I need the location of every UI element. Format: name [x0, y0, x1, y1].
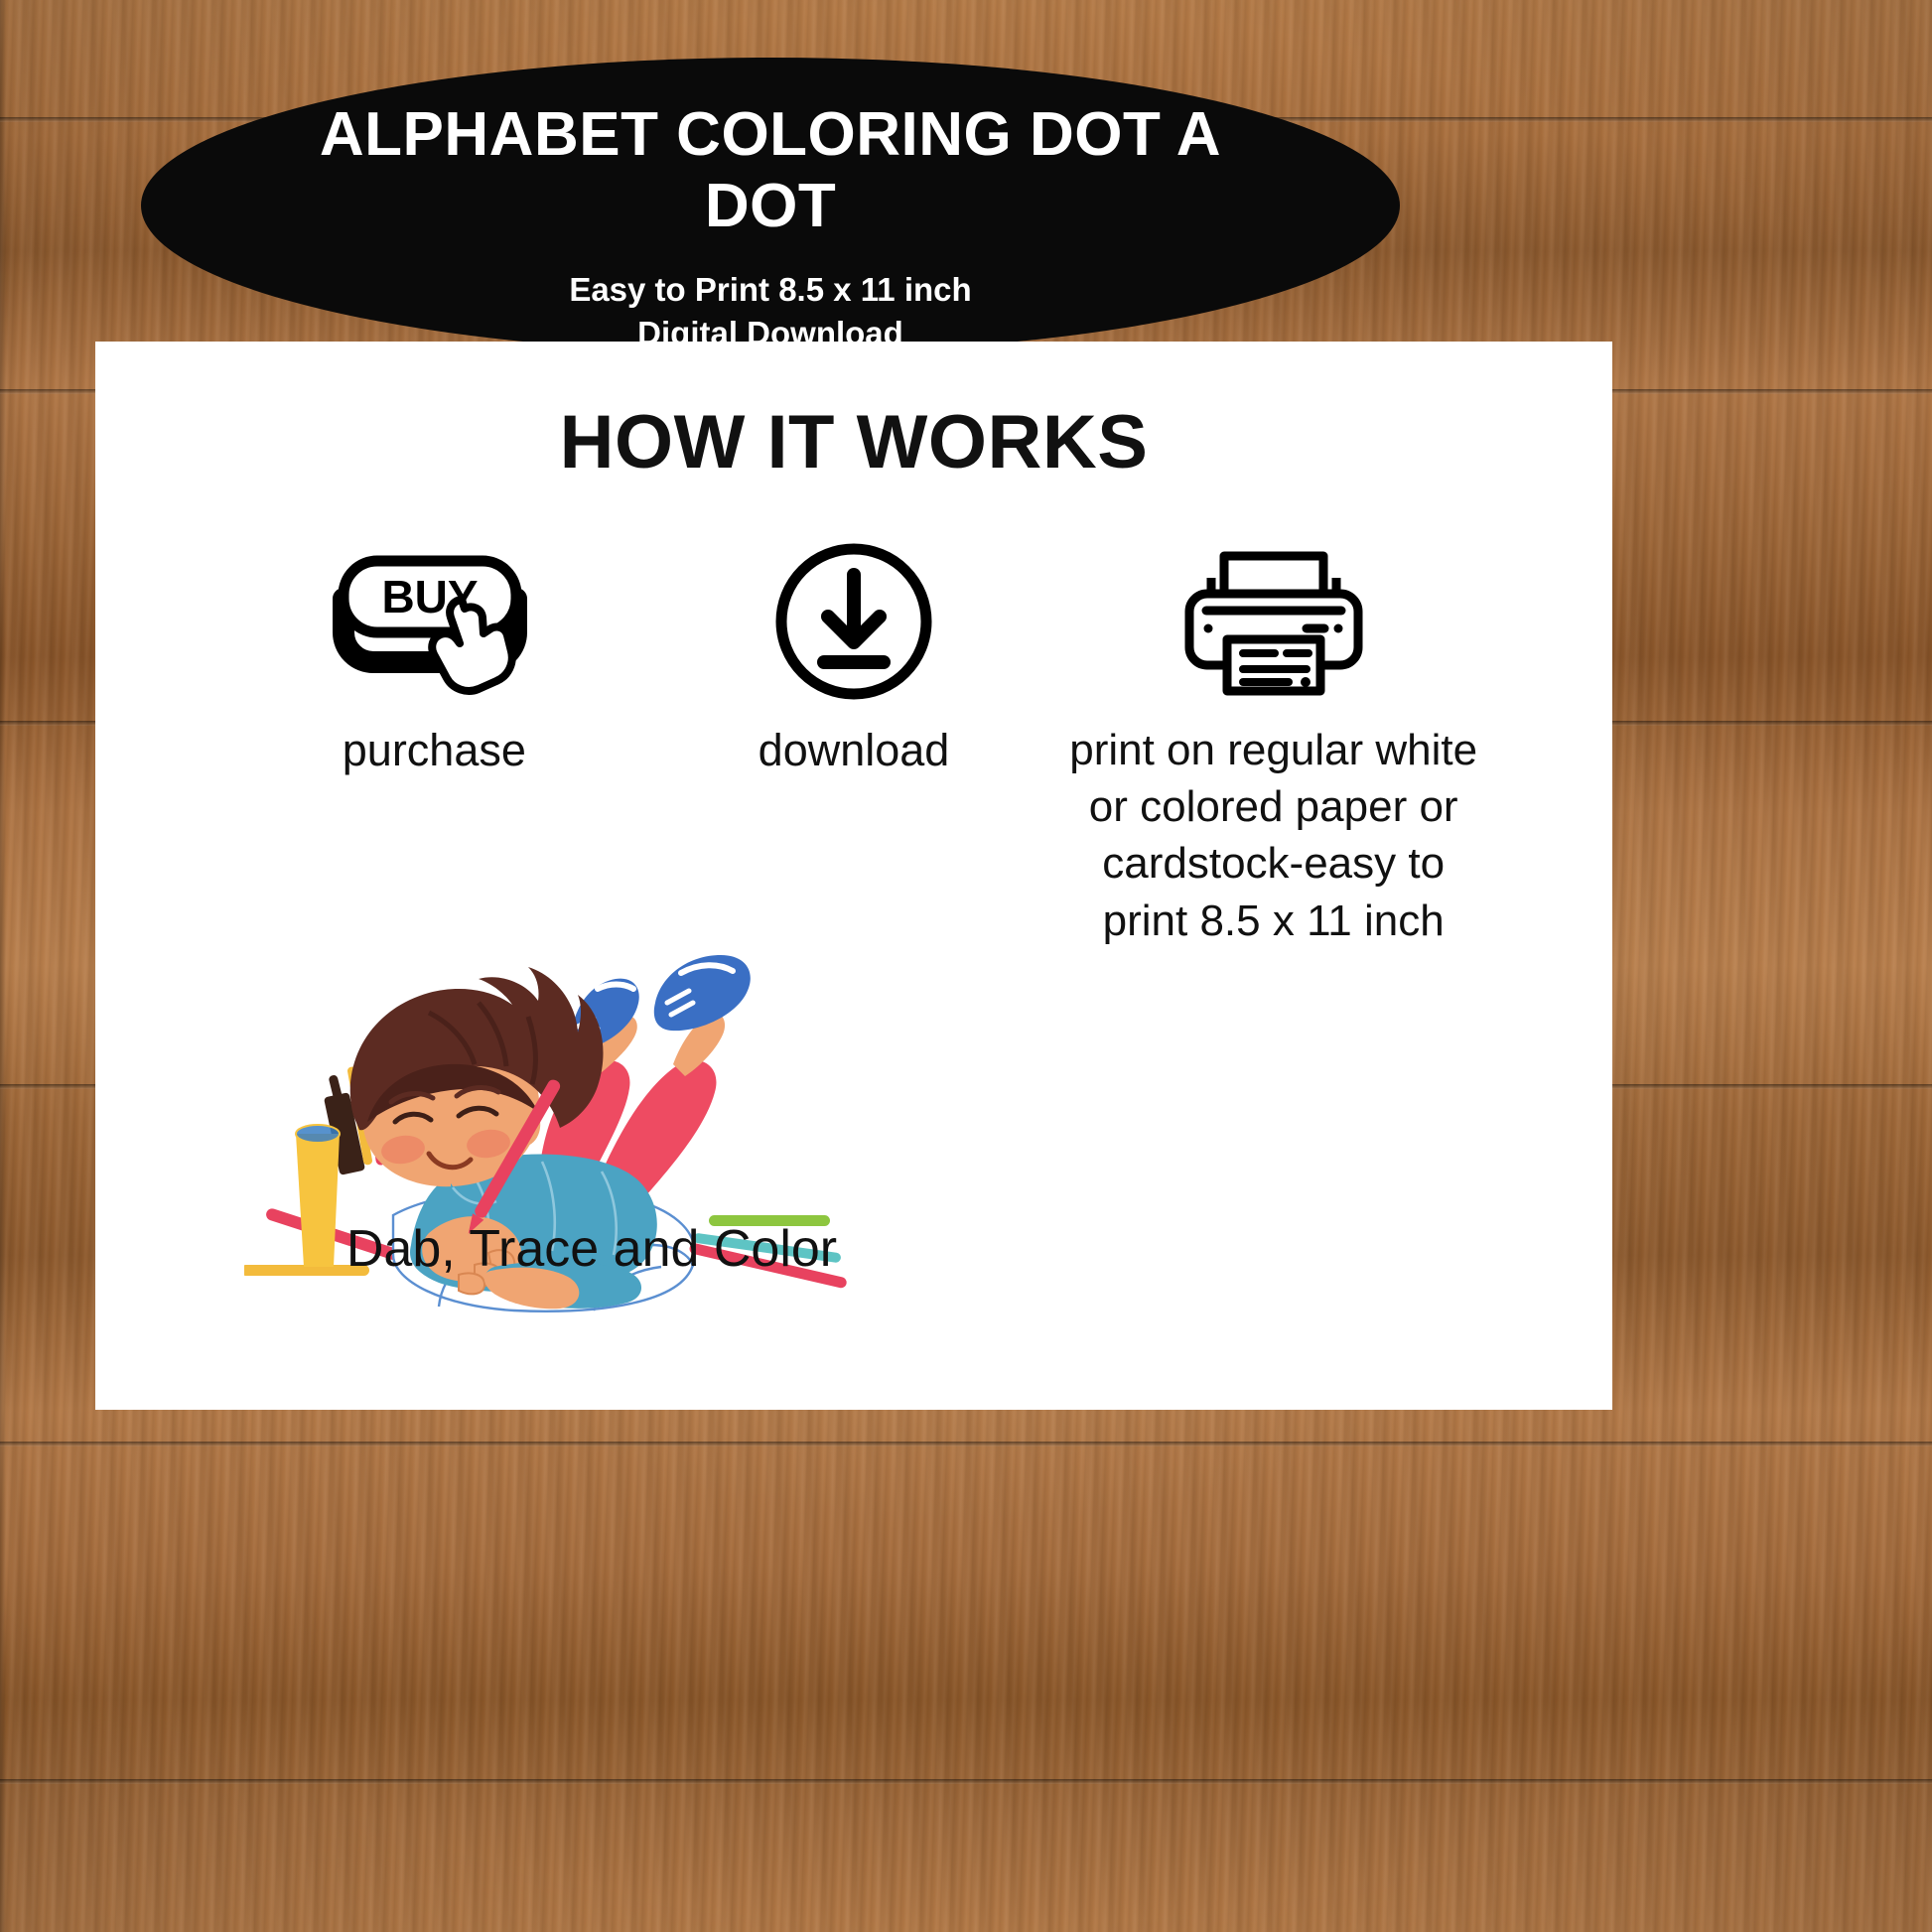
product-title: ALPHABET COLORING DOT A DOT	[141, 99, 1400, 242]
shoe-right	[654, 955, 751, 1031]
plank-seam	[0, 1779, 1932, 1784]
page-title: HOW IT WORKS	[95, 399, 1612, 485]
download-circle-arrow-icon	[644, 537, 1064, 706]
plank-seam	[0, 1442, 1932, 1447]
step-download-label: download	[644, 722, 1064, 780]
product-subtitle-line-2: Digital Download	[141, 312, 1400, 356]
title-banner-text: ALPHABET COLORING DOT A DOT Easy to Prin…	[141, 58, 1400, 356]
step-purchase: BUY purchase	[224, 537, 644, 780]
step-download: download	[644, 537, 1064, 780]
step-purchase-label: purchase	[224, 722, 644, 780]
buy-button-cursor-icon: BUY	[224, 537, 644, 706]
printer-icon	[1063, 537, 1483, 706]
steps-row: BUY purchase download	[95, 537, 1612, 949]
step-print: print on regular white or colored paper …	[1063, 537, 1483, 949]
product-subtitle: Easy to Print 8.5 x 11 inch Digital Down…	[141, 268, 1400, 356]
step-print-label: print on regular white or colored paper …	[1063, 722, 1483, 949]
product-subtitle-line-1: Easy to Print 8.5 x 11 inch	[141, 268, 1400, 313]
illustration-caption: Dab, Trace and Color	[95, 1219, 1088, 1279]
